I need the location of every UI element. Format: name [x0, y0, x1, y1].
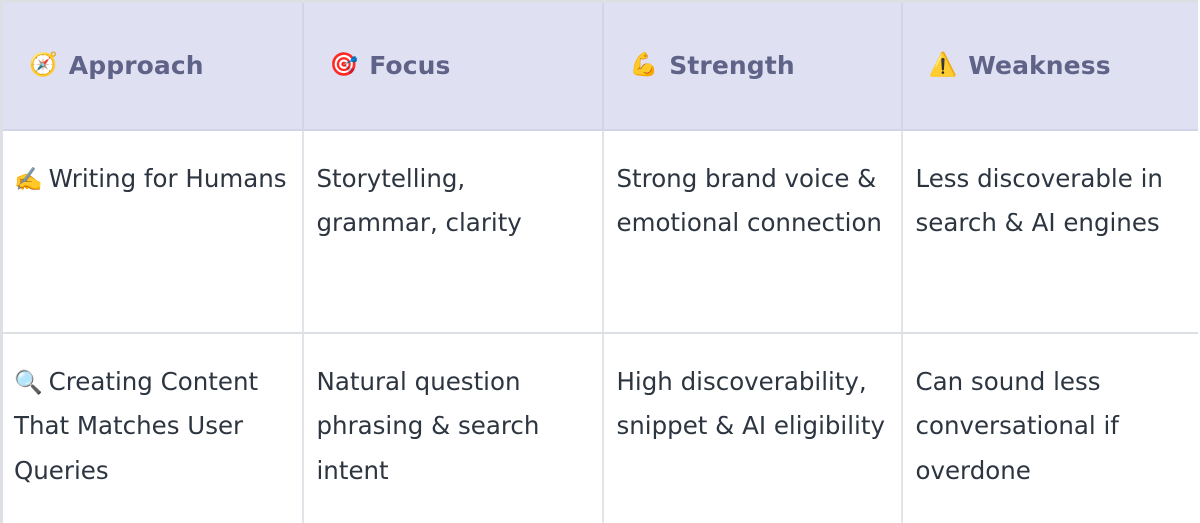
column-header-label: Approach	[69, 51, 204, 80]
cell-strength-text: High discoverability, snippet & AI eligi…	[617, 367, 885, 441]
comparison-table: 🧭 Approach 🎯 Focus 💪 Strength	[0, 0, 1198, 523]
cell-strength: High discoverability, snippet & AI eligi…	[603, 333, 902, 523]
flexed-biceps-icon: 💪	[630, 54, 659, 77]
column-header-strength: 💪 Strength	[603, 2, 902, 130]
compass-icon: 🧭	[29, 54, 58, 77]
column-header-label: Strength	[669, 51, 794, 80]
column-header-label: Weakness	[968, 51, 1110, 80]
writing-hand-icon: ✍️	[14, 167, 43, 193]
column-header-focus: 🎯 Focus	[303, 2, 603, 130]
column-header-label: Focus	[369, 51, 450, 80]
table-header-row: 🧭 Approach 🎯 Focus 💪 Strength	[2, 2, 1198, 130]
cell-weakness: Less discoverable in search & AI engines	[902, 130, 1198, 333]
cell-approach: 🔍Creating Content That Matches User Quer…	[2, 333, 303, 523]
column-header-weakness: ⚠️ Weakness	[902, 2, 1198, 130]
comparison-table-container: 🧭 Approach 🎯 Focus 💪 Strength	[0, 0, 1200, 523]
cell-weakness: Can sound less conversational if overdon…	[902, 333, 1198, 523]
cell-strength: Strong brand voice & emotional connectio…	[603, 130, 902, 333]
table-body: ✍️Writing for Humans Storytelling, gramm…	[2, 130, 1198, 523]
cell-strength-text: Strong brand voice & emotional connectio…	[617, 164, 882, 238]
cell-weakness-text: Less discoverable in search & AI engines	[916, 164, 1163, 238]
cell-weakness-text: Can sound less conversational if overdon…	[916, 367, 1119, 485]
cell-focus: Storytelling, grammar, clarity	[303, 130, 603, 333]
target-icon: 🎯	[330, 54, 359, 77]
magnifying-glass-icon: 🔍	[14, 370, 43, 396]
cell-approach-text: Creating Content That Matches User Queri…	[14, 367, 258, 485]
column-header-approach: 🧭 Approach	[2, 2, 303, 130]
warning-icon: ⚠️	[929, 54, 958, 77]
cell-approach: ✍️Writing for Humans	[2, 130, 303, 333]
table-row: ✍️Writing for Humans Storytelling, gramm…	[2, 130, 1198, 333]
table-row: 🔍Creating Content That Matches User Quer…	[2, 333, 1198, 523]
table-header: 🧭 Approach 🎯 Focus 💪 Strength	[2, 2, 1198, 130]
cell-focus-text: Natural question phrasing & search inten…	[317, 367, 540, 485]
cell-approach-text: Writing for Humans	[49, 164, 287, 193]
cell-focus-text: Storytelling, grammar, clarity	[317, 164, 522, 238]
cell-focus: Natural question phrasing & search inten…	[303, 333, 603, 523]
